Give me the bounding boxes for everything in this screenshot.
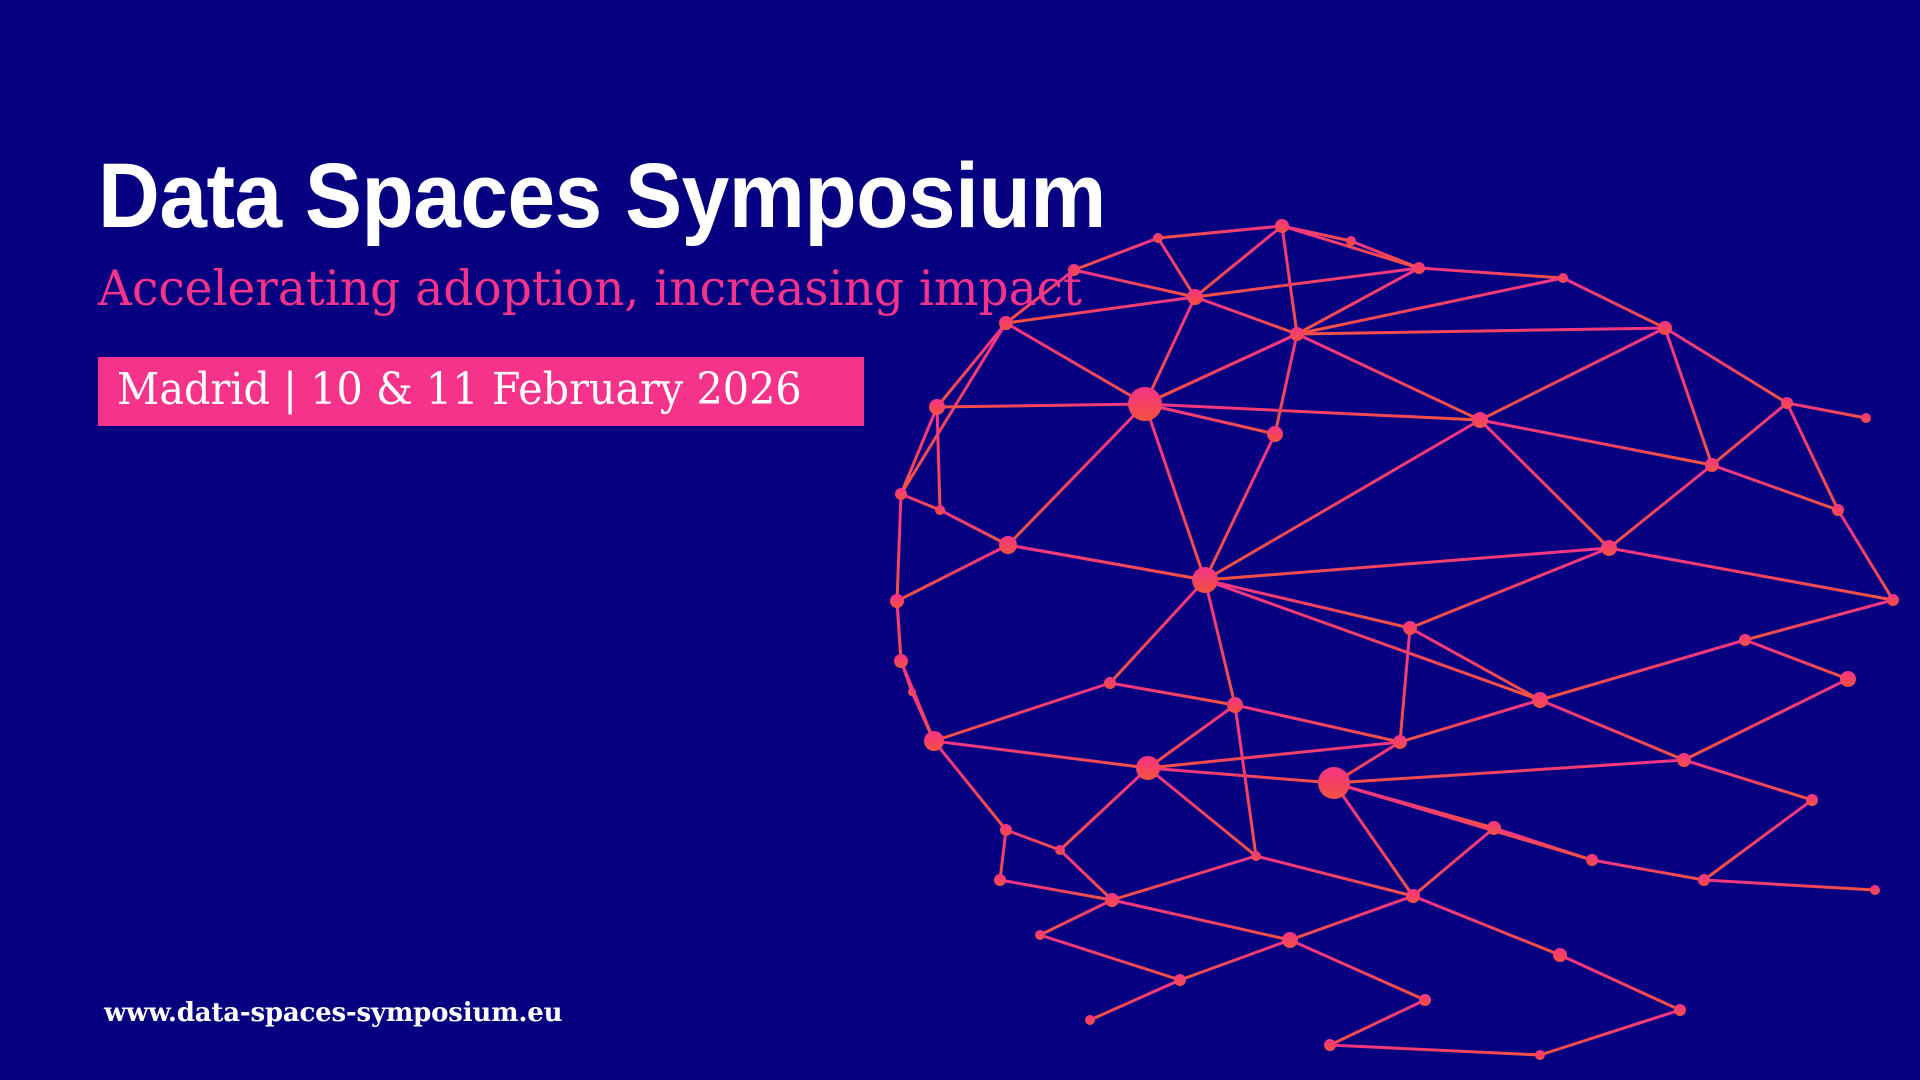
network-edge [1148,768,1256,856]
network-node [1324,1039,1336,1051]
network-edge [1410,628,1540,700]
network-edge [1205,548,1609,580]
page-title: Data Spaces Symposium [98,150,1106,242]
network-edge [1665,328,1712,465]
network-node [1393,735,1407,749]
network-edge [1704,880,1875,890]
status-badge: Madrid | 10 & 11 February 2026 [98,357,864,426]
network-node [908,688,916,696]
network-edge [1419,268,1563,278]
network-edge [940,510,1008,545]
network-edge [1704,800,1812,880]
network-node [1870,885,1880,895]
network-edge [1040,900,1112,935]
network-edge [1351,241,1419,268]
network-edge [1745,640,1848,679]
network-edge [1195,226,1282,297]
network-node [1104,677,1116,689]
network-edge [1838,510,1893,600]
network-edge [1787,403,1838,510]
network-node [1187,289,1203,305]
network-edge [1235,705,1400,742]
network-edge [1112,856,1256,900]
network-edge [1256,856,1413,896]
network-edge [1400,700,1540,742]
symposium-banner: Data Spaces Symposium Accelerating adopt… [0,0,1920,1080]
network-edge [912,692,934,741]
network-edge [1560,955,1680,1010]
network-edge [897,545,1008,601]
network-edge [1745,600,1893,640]
network-edge [1480,420,1609,548]
network-node [1406,889,1420,903]
network-edge [1330,1045,1540,1055]
network-node [1419,994,1431,1006]
network-node [1472,412,1488,428]
network-edge [1400,628,1410,742]
network-edge [1540,1010,1680,1055]
network-edge [1290,940,1425,1000]
website-url[interactable]: www.data-spaces-symposium.eu [104,998,562,1028]
network-node [1085,1015,1095,1025]
network-edge [1195,297,1297,334]
network-edge [1060,850,1112,900]
network-edge [1008,545,1205,580]
network-edge [1665,328,1787,403]
network-node [1677,753,1691,767]
network-edge [1282,226,1351,241]
network-node [1861,413,1871,423]
network-node [1487,821,1501,835]
network-node [1535,1050,1545,1060]
network-node [1601,540,1617,556]
network-node [1739,634,1751,646]
network-edge [1000,830,1006,880]
network-edge [1334,742,1400,783]
network-node [994,874,1006,886]
network-edge [1040,935,1180,980]
network-edge [897,494,901,601]
network-edge [1148,705,1235,768]
network-edge [1275,334,1297,434]
network-edge [1712,465,1838,510]
network-edge [901,661,912,692]
tagline: Accelerating adoption, increasing impact [98,242,1138,313]
network-edge [1145,404,1205,580]
network-edge [1282,226,1419,268]
network-edge [1712,403,1787,465]
network-edge [934,683,1110,741]
network-edge [1297,334,1480,420]
network-edge [1334,783,1592,860]
network-edge [1235,705,1256,856]
network-node [890,594,904,608]
network-node [1413,262,1425,274]
network-node [1698,874,1710,886]
network-node [1055,845,1065,855]
network-edge [1110,580,1205,683]
network-edge [1410,548,1609,628]
headline-block: Data Spaces Symposium Accelerating adopt… [98,150,1182,426]
network-edge [1592,860,1704,880]
network-node [1174,974,1186,986]
network-node [1781,397,1793,409]
network-edge [1480,420,1712,465]
network-edge [1195,268,1419,297]
network-node [1705,458,1719,472]
network-node [1532,692,1548,708]
network-node [1840,671,1856,687]
network-node [1290,327,1304,341]
network-edge [934,741,1006,830]
network-node [1035,930,1045,940]
network-node [894,654,908,668]
network-edge [1413,828,1494,896]
network-node [1832,504,1844,516]
network-node [935,505,945,515]
network-node [1251,851,1261,861]
network-edge [1480,328,1665,420]
network-edge [1090,980,1180,1020]
network-node [1658,321,1672,335]
network-node [1674,1004,1686,1016]
network-edge [1112,900,1290,940]
network-edge [934,741,1148,768]
network-edge [1330,1000,1425,1045]
network-edge [1282,226,1297,334]
network-node [1403,621,1417,635]
network-edge [1413,896,1560,955]
network-edge [1148,742,1400,768]
network-edge [1060,768,1148,850]
network-edge [901,661,934,741]
network-node [1267,426,1283,442]
network-edge [1297,268,1419,334]
network-edge [897,601,901,661]
network-node [1553,948,1567,962]
network-edge [1205,580,1410,628]
network-node [895,488,907,500]
network-edge [1205,580,1235,705]
network-node [1558,273,1568,283]
network-edge [1205,420,1480,580]
network-node [1887,594,1899,606]
network-node [999,536,1017,554]
network-edge [1110,683,1235,705]
network-edge [1000,880,1112,900]
network-node [1000,824,1012,836]
network-edge [1334,783,1494,828]
network-edge [1787,403,1866,418]
network-node [1806,794,1818,806]
network-edge [1008,545,1205,580]
network-edge [1609,548,1893,600]
network-edge [1494,828,1592,860]
network-edge [1563,278,1665,328]
network-edge [1684,760,1812,800]
network-edge [912,692,934,741]
network-node [1318,767,1350,799]
network-node [1346,236,1356,246]
network-edge [897,601,901,661]
network-node [1136,756,1160,780]
network-edge [1609,465,1712,548]
network-node [1275,219,1289,233]
network-edge [1684,679,1848,760]
network-node [1227,697,1243,713]
network-edge [1148,768,1334,783]
network-edge [1540,640,1745,700]
network-edge [901,494,940,510]
network-edge [1180,940,1290,980]
network-edge [1334,760,1684,783]
network-edge [1205,434,1275,580]
network-edge [1006,830,1060,850]
network-node [1192,567,1218,593]
network-edge [1205,580,1540,700]
network-edge [1540,700,1684,760]
event-details-text: Madrid | 10 & 11 February 2026 [117,368,802,412]
network-node [1586,854,1598,866]
network-node [924,731,944,751]
network-edge [1145,404,1480,420]
network-edge [1297,328,1665,334]
network-edge [1334,783,1413,896]
network-node [1105,893,1119,907]
network-edge [1290,896,1413,940]
network-node [1282,932,1298,948]
network-edge [1297,278,1563,334]
